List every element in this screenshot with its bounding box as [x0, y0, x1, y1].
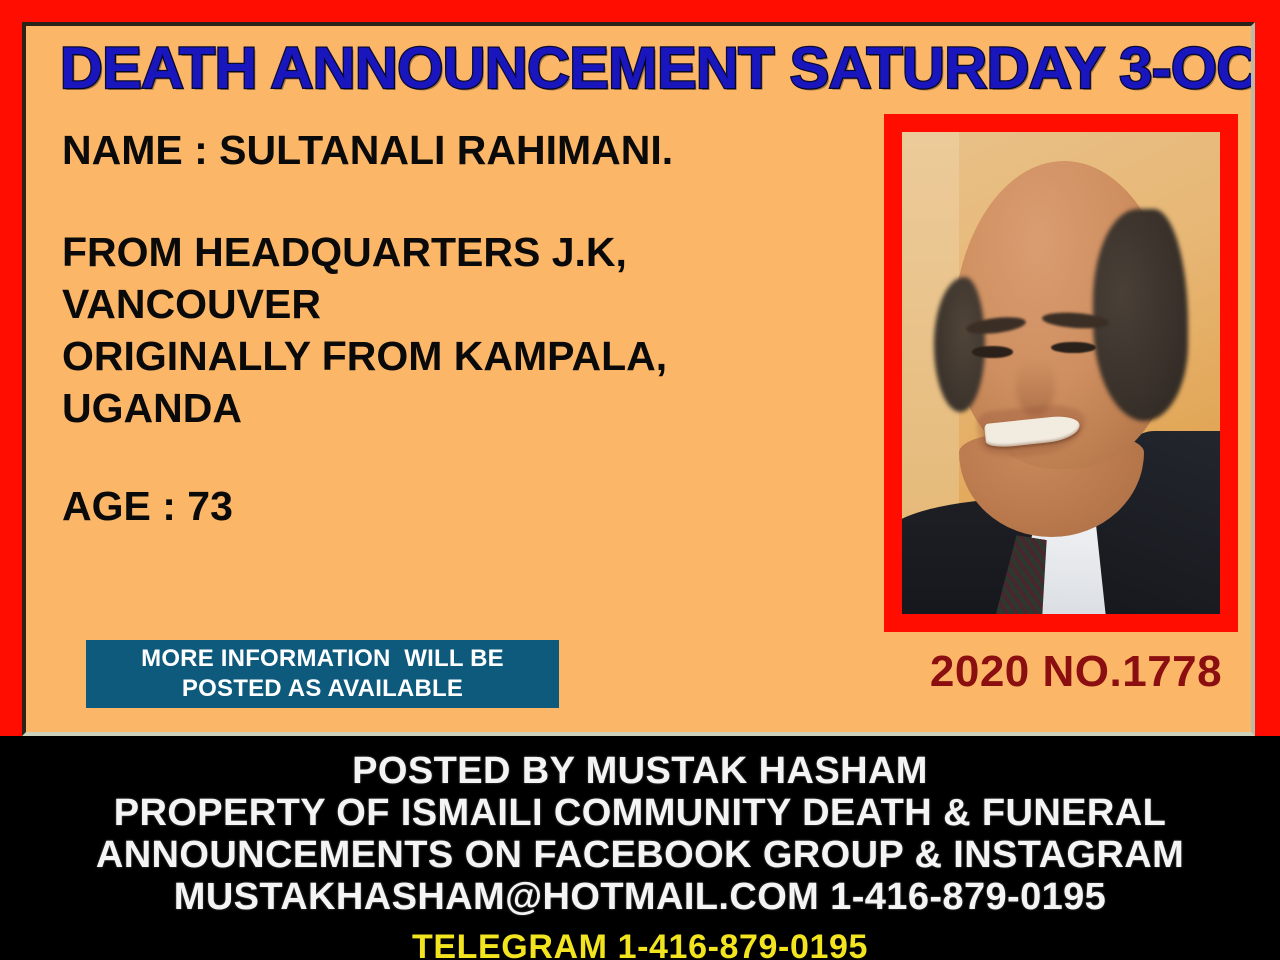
footer-line-2: PROPERTY OF ISMAILI COMMUNITY DEATH & FU…	[0, 792, 1280, 834]
portrait-photo	[902, 132, 1220, 614]
footer-line-1: POSTED BY MUSTAK HASHAM	[0, 736, 1280, 792]
footer-telegram-contact: TELEGRAM 1-416-879-0195	[0, 928, 1280, 960]
announcement-serial-number: 2020 NO.1778	[906, 646, 1246, 698]
detail-age: AGE : 73	[62, 480, 852, 532]
spacer	[62, 434, 852, 480]
footer-line-4-contact: MUSTAKHASHAM@HOTMAIL.COM 1-416-879-0195	[0, 876, 1280, 918]
announcement-card: DEATH ANNOUNCEMENT SATURDAY 3-OCT-2020 N…	[22, 22, 1255, 736]
footer-credits: POSTED BY MUSTAK HASHAM PROPERTY OF ISMA…	[0, 736, 1280, 960]
deceased-details: NAME : SULTANALI RAHIMANI. FROM HEADQUAR…	[62, 124, 852, 532]
portrait-frame	[884, 114, 1238, 632]
page-title: DEATH ANNOUNCEMENT SATURDAY 3-OCT-2020	[60, 38, 1253, 100]
detail-from-line-2: VANCOUVER	[62, 278, 852, 330]
detail-origin-line-1: ORIGINALLY FROM KAMPALA,	[62, 330, 852, 382]
death-announcement-poster: DEATH ANNOUNCEMENT SATURDAY 3-OCT-2020 N…	[0, 0, 1280, 960]
more-information-banner: MORE INFORMATION WILL BE POSTED AS AVAIL…	[86, 640, 559, 708]
detail-from-line-1: FROM HEADQUARTERS J.K,	[62, 226, 852, 278]
detail-origin-line-2: UGANDA	[62, 382, 852, 434]
detail-name: NAME : SULTANALI RAHIMANI.	[62, 124, 852, 176]
spacer	[62, 176, 852, 226]
eye-right	[1051, 342, 1096, 354]
note-line-1: MORE INFORMATION WILL BE	[141, 644, 504, 674]
footer-line-3: ANNOUNCEMENTS ON FACEBOOK GROUP & INSTAG…	[0, 834, 1280, 876]
note-line-2: POSTED AS AVAILABLE	[182, 674, 463, 704]
hair-right	[1093, 209, 1188, 421]
